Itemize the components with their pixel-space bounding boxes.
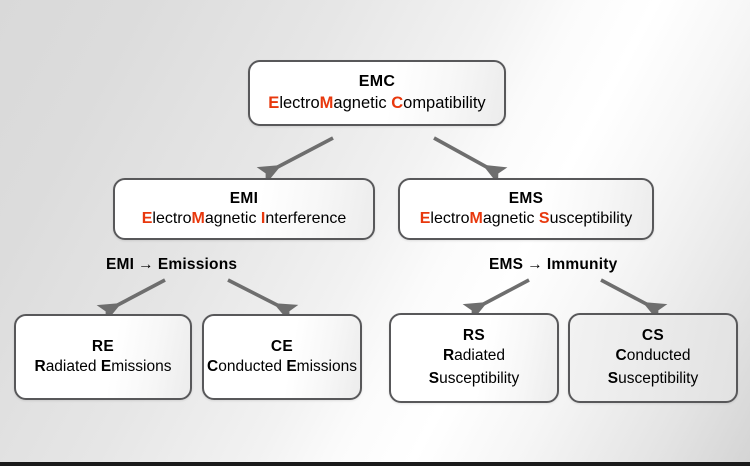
label-emi-left: EMI <box>106 256 134 273</box>
node-ems-abbr: EMS <box>509 189 544 209</box>
node-ce[interactable]: CE Conducted Emissions <box>202 314 362 400</box>
right-arrow-icon: → <box>134 256 158 273</box>
node-emc[interactable]: EMC ElectroMagnetic Compatibility <box>248 60 506 126</box>
node-cs-abbr: CS <box>642 326 664 346</box>
right-arrow-icon: → <box>523 256 547 273</box>
node-ems-full: ElectroMagnetic Susceptibility <box>420 209 633 230</box>
label-ems-to-immunity: EMS→Immunity <box>489 256 617 274</box>
node-rs-abbr: RS <box>463 326 485 346</box>
node-ems[interactable]: EMS ElectroMagnetic Susceptibility <box>398 178 654 240</box>
label-emi-right: Emissions <box>158 256 237 273</box>
arrow-emi-to-ce <box>228 280 283 308</box>
node-rs-full: RadiatedSusceptibility <box>429 345 519 390</box>
label-emi-to-emissions: EMI→Emissions <box>106 256 237 274</box>
bottom-rule <box>0 462 750 466</box>
node-emi-full: ElectroMagnetic Interference <box>142 209 347 230</box>
arrow-emi-to-re <box>112 280 165 308</box>
node-ce-full: Conducted Emissions <box>207 357 357 377</box>
node-emi[interactable]: EMI ElectroMagnetic Interference <box>113 178 375 240</box>
node-cs[interactable]: CS ConductedSusceptibility <box>568 313 738 403</box>
node-emi-abbr: EMI <box>230 189 258 209</box>
arrow-emc-to-emi <box>272 138 333 170</box>
arrow-emc-to-ems <box>434 138 492 170</box>
node-re[interactable]: RE Radiated Emissions <box>14 314 192 400</box>
node-ce-abbr: CE <box>271 337 293 357</box>
node-re-full: Radiated Emissions <box>34 357 171 377</box>
arrow-ems-to-cs <box>601 280 652 307</box>
arrow-ems-to-rs <box>478 280 529 307</box>
node-cs-full: ConductedSusceptibility <box>608 345 698 390</box>
node-rs[interactable]: RS RadiatedSusceptibility <box>389 313 559 403</box>
diagram-canvas: EMC ElectroMagnetic Compatibility EMI El… <box>0 0 750 466</box>
node-emc-abbr: EMC <box>359 72 395 92</box>
node-re-abbr: RE <box>92 337 114 357</box>
label-ems-left: EMS <box>489 256 523 273</box>
label-ems-right: Immunity <box>547 256 618 273</box>
node-emc-full: ElectroMagnetic Compatibility <box>268 93 485 114</box>
